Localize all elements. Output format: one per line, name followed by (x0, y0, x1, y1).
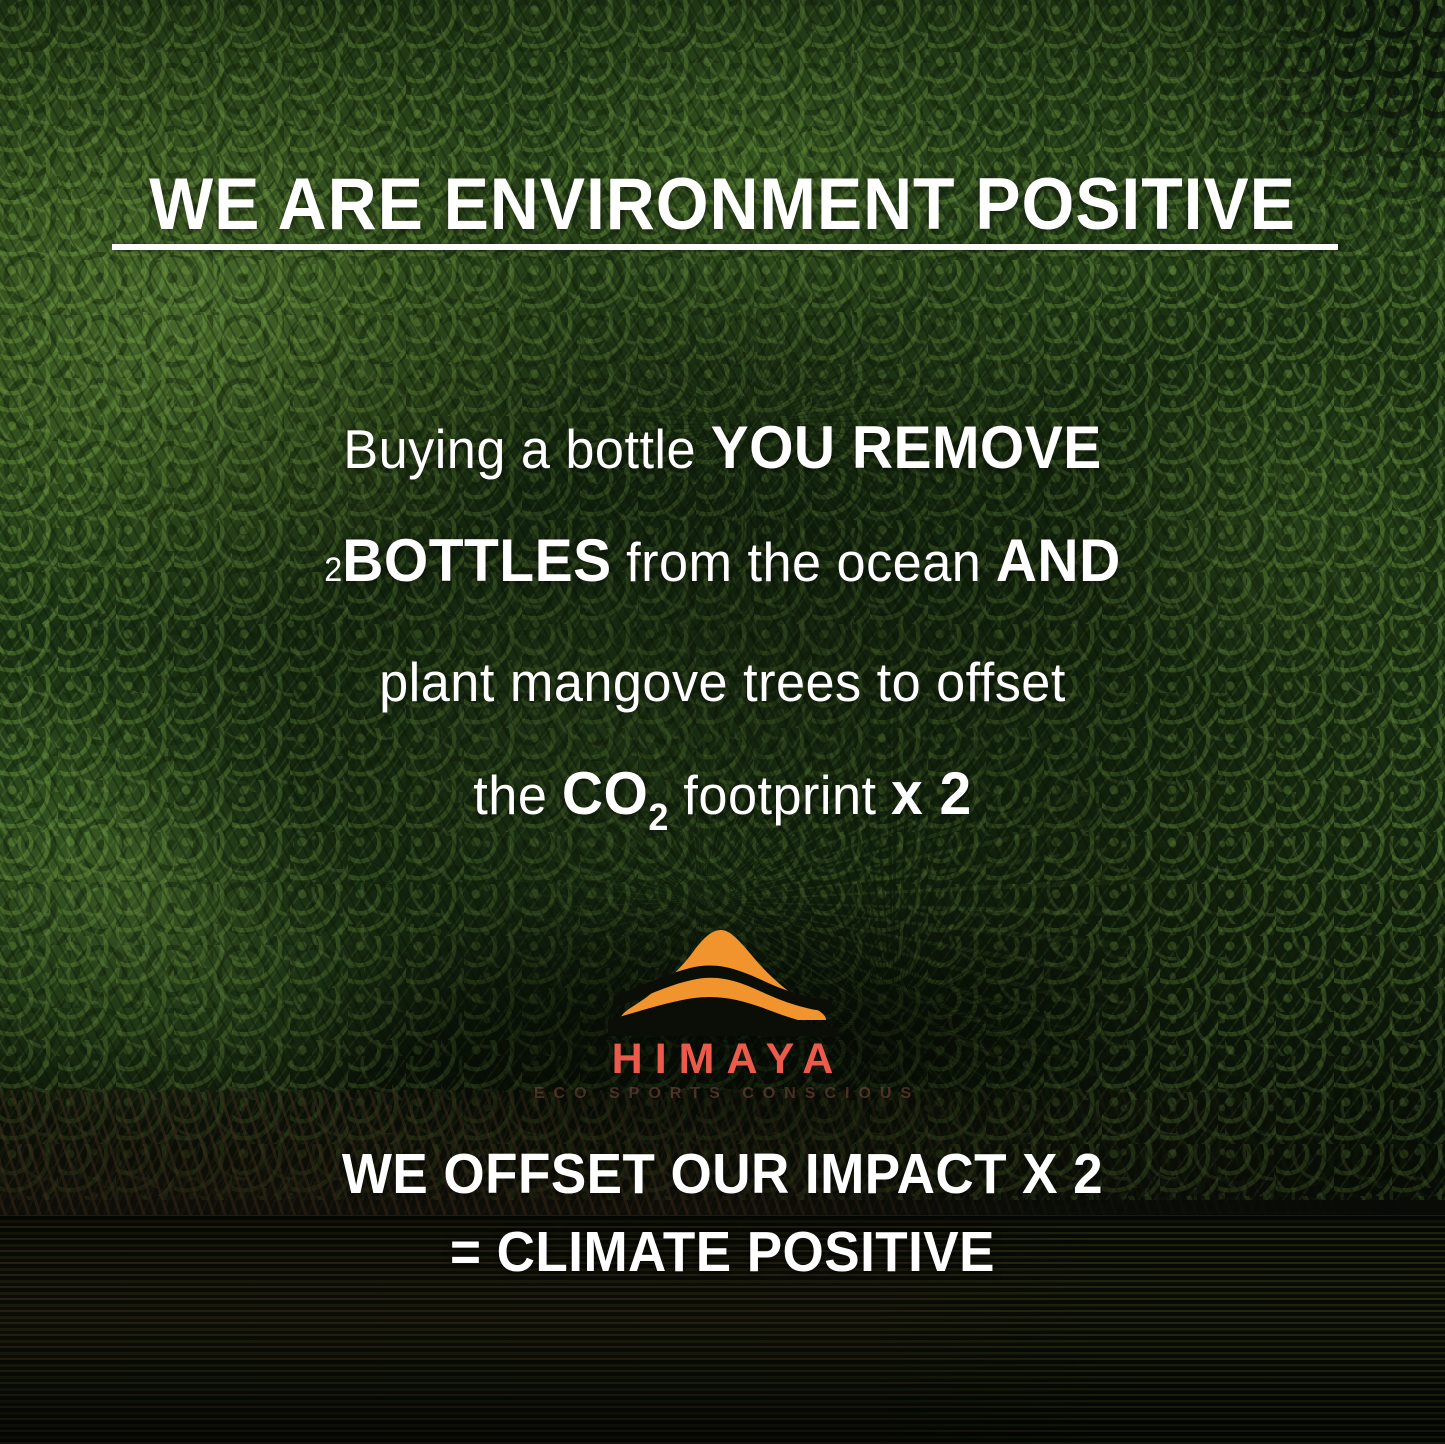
brand-logo: HIMAYA ECO SPORTS CONSCIOUS (0, 928, 1445, 1102)
footer-line-2: = CLIMATE POSITIVE (51, 1213, 1395, 1291)
message-line-4-light-the: the (473, 764, 547, 826)
brand-wordmark: HIMAYA (0, 1038, 1445, 1081)
message-line-2-number: 2 (324, 551, 342, 589)
message-line-3: plant mangove trees to offset (36, 626, 1409, 738)
footer-line-1: WE OFFSET OUR IMPACT X 2 (51, 1135, 1395, 1213)
message-line-2: 2BOTTLES from the ocean AND (36, 505, 1409, 626)
message-line-2-light: from the ocean (626, 531, 981, 593)
message-block: Buying a bottle YOU REMOVE 2BOTTLES from… (0, 392, 1445, 874)
co2-label: CO (562, 760, 648, 827)
footer-statement: WE OFFSET OUR IMPACT X 2 = CLIMATE POSIT… (51, 1135, 1395, 1291)
message-line-1-bold: YOU REMOVE (711, 414, 1102, 481)
message-line-4: the CO2 footprint x 2 (36, 738, 1409, 874)
message-line-2-bold-and: AND (996, 527, 1121, 594)
co2-subscript: 2 (648, 797, 669, 839)
page-title: WE ARE ENVIRONMENT POSITIVE (51, 168, 1395, 241)
message-line-4-bold-multiplier: x 2 (891, 760, 972, 827)
poster-content: WE ARE ENVIRONMENT POSITIVE Buying a bot… (0, 0, 1445, 1444)
title-underline-rule (112, 244, 1338, 250)
message-line-4-light-footprint: footprint (683, 764, 876, 826)
message-line-4-co2: CO2 (562, 760, 669, 827)
brand-tagline: ECO SPORTS CONSCIOUS (0, 1086, 1445, 1102)
message-line-1: Buying a bottle YOU REMOVE (36, 392, 1409, 505)
message-line-2-bold-bottles: BOTTLES (342, 527, 611, 594)
message-line-3-light: plant mangove trees to offset (379, 651, 1066, 713)
himaya-mountain-wave-icon (608, 928, 838, 1036)
message-line-1-light: Buying a bottle (343, 418, 696, 480)
environment-positive-poster: WE ARE ENVIRONMENT POSITIVE Buying a bot… (0, 0, 1445, 1444)
